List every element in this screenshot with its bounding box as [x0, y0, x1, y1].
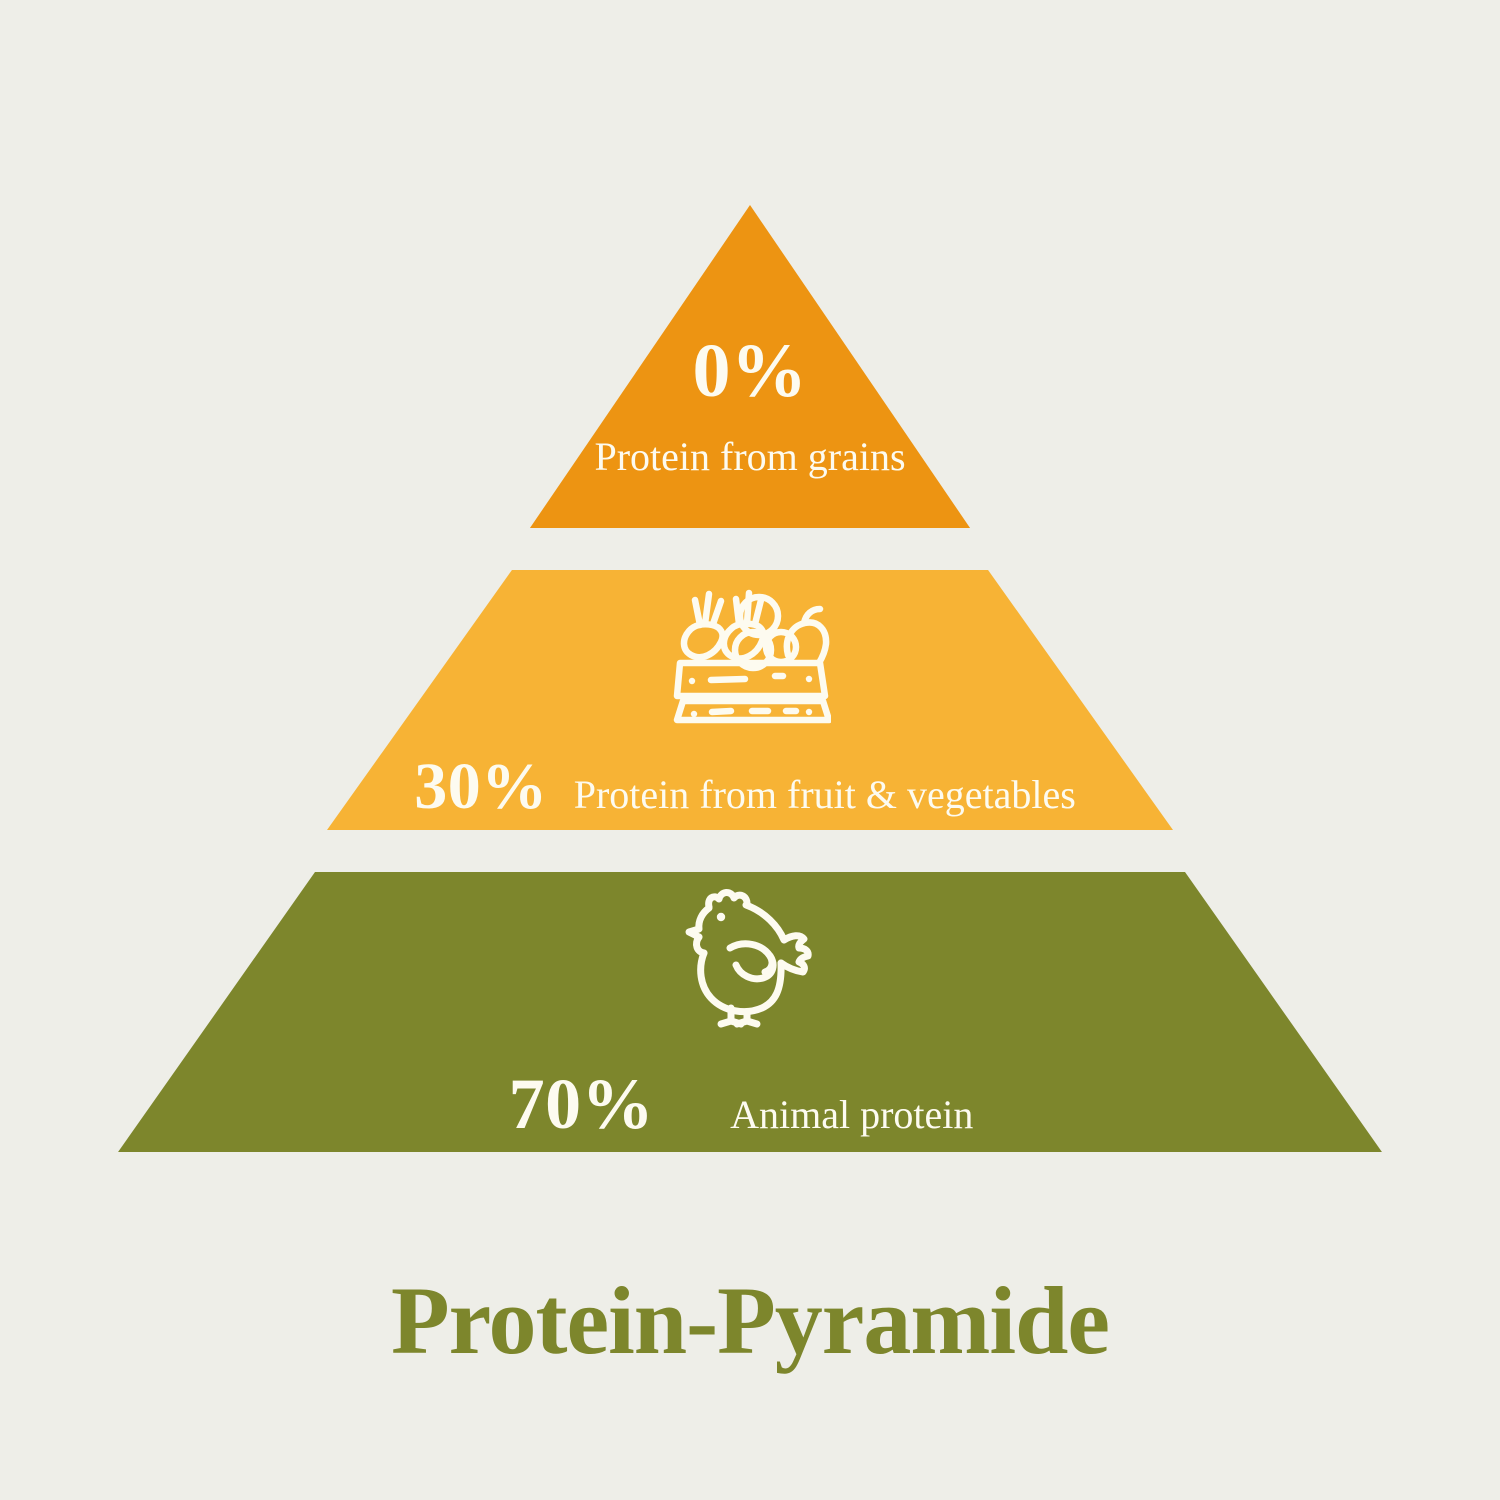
tier-grains-label: Protein from grains [594, 437, 905, 477]
page-title: Protein-Pyramide [0, 1268, 1500, 1374]
tier-grains-percent: 0% [693, 333, 808, 409]
protein-pyramid-infographic: 0% Protein from grains [0, 0, 1500, 1500]
vegetable-crate-icon [669, 584, 831, 724]
tier-fruit-vegetables-percent: 30% [414, 754, 548, 820]
tier-animal-label: Animal protein [730, 1095, 973, 1135]
tier-animal-percent: 70% [509, 1068, 655, 1140]
tier-fruit-vegetables-row: 30% Protein from fruit & vegetables [414, 754, 1076, 820]
tier-animal-row: 70% Animal protein [509, 1068, 974, 1140]
pyramid-tier-animal[interactable]: 70% Animal protein [0, 872, 1500, 1152]
tier-fruit-vegetables-label: Protein from fruit & vegetables [574, 775, 1076, 815]
pyramid-chart: 0% Protein from grains [0, 0, 1500, 1220]
chicken-icon [680, 882, 820, 1032]
pyramid-tier-fruit-vegetables[interactable]: 30% Protein from fruit & vegetables [0, 570, 1500, 830]
tier-fruit-vegetables-content: 30% Protein from fruit & vegetables [0, 570, 1500, 844]
tier-animal-content: 70% Animal protein [0, 872, 1500, 1162]
pyramid-tier-grains[interactable]: 0% Protein from grains [0, 205, 1500, 528]
